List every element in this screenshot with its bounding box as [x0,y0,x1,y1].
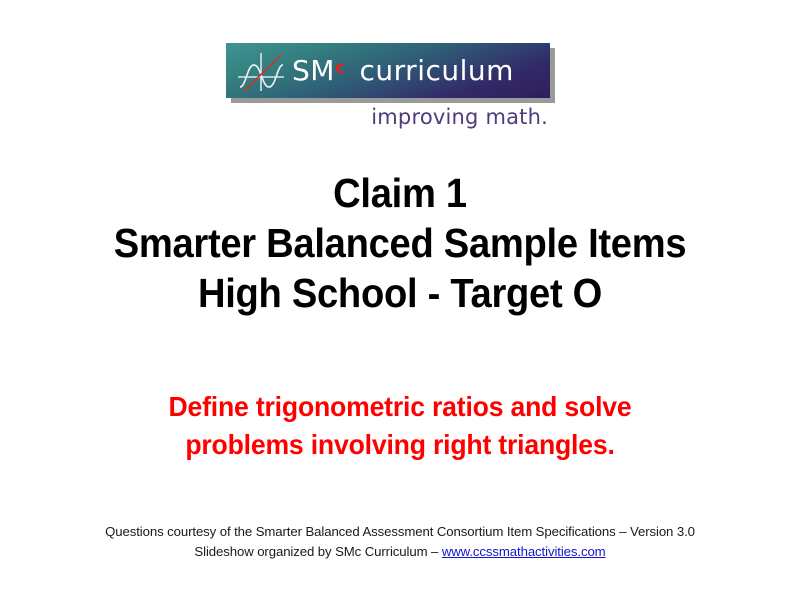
footer-credit-line: Questions courtesy of the Smarter Balanc… [0,522,800,542]
footer-attribution-line: Slideshow organized by SMc Curriculum – … [0,542,800,562]
ccssmathactivities-link[interactable]: www.ccssmathactivities.com [442,544,606,559]
logo-wordmark: SMccurriculum [292,57,514,85]
title-line-3: High School - Target O [28,268,772,318]
slide-subtitle: Define trigonometric ratios and solve pr… [0,388,800,464]
slide-footer: Questions courtesy of the Smarter Balanc… [0,522,800,562]
smc-curriculum-logo: SMccurriculum improving math. [226,43,550,129]
subtitle-line-1: Define trigonometric ratios and solve [20,388,780,426]
footer-attribution-text: Slideshow organized by SMc Curriculum – [194,544,441,559]
slide-canvas: SMccurriculum improving math. Claim 1 Sm… [0,0,800,600]
subtitle-line-2: problems involving right triangles. [20,426,780,464]
logo-brand-superscript-c: c [335,58,346,78]
logo-brand-curriculum: curriculum [360,54,514,87]
title-line-2: Smarter Balanced Sample Items [28,218,772,268]
logo-banner: SMccurriculum [226,43,550,98]
slide-title: Claim 1 Smarter Balanced Sample Items Hi… [0,168,800,318]
title-line-1: Claim 1 [28,168,772,218]
sine-curve-axes-icon [234,47,288,95]
logo-brand-sm: SM [292,54,335,87]
logo-tagline: improving math. [226,105,550,129]
